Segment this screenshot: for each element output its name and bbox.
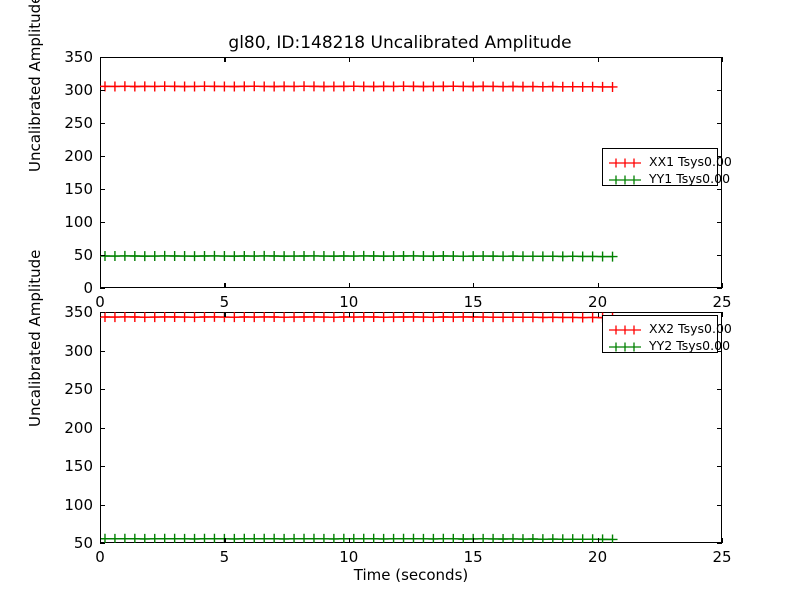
x-tick-mark	[722, 538, 723, 543]
y-tick-label: 50	[74, 246, 93, 264]
legend-entry: XX2 Tsys0.00	[608, 320, 711, 337]
x-tick-label: 15	[464, 548, 483, 566]
x-tick-label: 20	[588, 293, 607, 311]
x-tick-label: 0	[95, 293, 105, 311]
x-tick-mark-top	[473, 312, 474, 317]
y-tick-mark	[100, 466, 105, 467]
x-tick-mark	[349, 538, 350, 543]
y-tick-mark	[100, 428, 105, 429]
y-tick-mark-right	[717, 222, 722, 223]
y-tick-mark	[100, 288, 105, 289]
y-tick-label: 100	[64, 496, 93, 514]
x-tick-mark	[100, 283, 101, 288]
legend-entry: YY1 Tsys0.00	[608, 170, 711, 187]
y-tick-mark-right	[717, 428, 722, 429]
figure-title: gl80, ID:148218 Uncalibrated Amplitude	[0, 33, 800, 53]
top-panel-ylabel: Uncalibrated Amplitude	[26, 0, 44, 172]
x-tick-label: 10	[339, 548, 358, 566]
data-series	[100, 251, 618, 262]
y-tick-label: 200	[64, 419, 93, 437]
legend-marker-icon	[608, 339, 642, 353]
y-tick-mark-right	[717, 505, 722, 506]
y-tick-label: 200	[64, 147, 93, 165]
x-tick-mark-top	[722, 57, 723, 62]
y-tick-mark	[100, 123, 105, 124]
series-markers	[100, 81, 618, 92]
y-tick-mark	[100, 90, 105, 91]
y-tick-mark	[100, 189, 105, 190]
legend-label: YY2 Tsys0.00	[649, 339, 730, 353]
x-tick-mark-top	[100, 57, 101, 62]
x-tick-mark-top	[598, 57, 599, 62]
x-tick-mark	[224, 538, 225, 543]
x-tick-mark	[224, 283, 225, 288]
series-markers	[100, 251, 618, 262]
series-markers	[100, 312, 618, 323]
y-tick-label: 150	[64, 180, 93, 198]
x-tick-mark-top	[473, 57, 474, 62]
bottom-panel-ylabel: Uncalibrated Amplitude	[26, 250, 44, 427]
x-tick-mark-top	[349, 57, 350, 62]
y-tick-label: 300	[64, 81, 93, 99]
top-panel-legend: XX1 Tsys0.00YY1 Tsys0.00	[602, 148, 718, 186]
y-tick-label: 250	[64, 114, 93, 132]
bottom-panel: 501001502002503003500510152025 XX2 Tsys0…	[100, 312, 722, 543]
bottom-panel-xlabel: Time (seconds)	[354, 566, 469, 584]
legend-marker-icon	[608, 155, 642, 169]
y-tick-mark-right	[717, 288, 722, 289]
y-tick-label: 300	[64, 342, 93, 360]
y-tick-mark	[100, 389, 105, 390]
y-tick-mark	[100, 351, 105, 352]
y-tick-label: 100	[64, 213, 93, 231]
x-tick-mark-top	[100, 312, 101, 317]
y-tick-mark-right	[717, 466, 722, 467]
legend-entry: YY2 Tsys0.00	[608, 337, 711, 354]
legend-label: YY1 Tsys0.00	[649, 172, 730, 186]
y-tick-mark-right	[717, 543, 722, 544]
x-tick-mark-top	[598, 312, 599, 317]
y-tick-mark-right	[717, 255, 722, 256]
y-tick-mark	[100, 505, 105, 506]
y-tick-mark-right	[717, 189, 722, 190]
y-tick-label: 0	[83, 279, 93, 297]
series-markers	[100, 534, 618, 543]
x-tick-mark-top	[349, 312, 350, 317]
x-tick-label: 25	[712, 293, 731, 311]
x-tick-mark	[100, 538, 101, 543]
y-tick-label: 150	[64, 457, 93, 475]
x-tick-label: 5	[220, 548, 230, 566]
x-tick-mark	[598, 283, 599, 288]
x-tick-mark-top	[224, 312, 225, 317]
y-tick-label: 350	[64, 48, 93, 66]
data-series	[100, 534, 618, 543]
data-series	[100, 312, 618, 323]
legend-marker-icon	[608, 322, 642, 336]
y-tick-mark-right	[717, 123, 722, 124]
figure-canvas: gl80, ID:148218 Uncalibrated Amplitude 0…	[0, 0, 800, 600]
legend-entry: XX1 Tsys0.00	[608, 153, 711, 170]
top-panel: 0501001502002503003500510152025 XX1 Tsys…	[100, 57, 722, 288]
x-tick-label: 10	[339, 293, 358, 311]
legend-label: XX1 Tsys0.00	[649, 155, 732, 169]
legend-label: XX2 Tsys0.00	[649, 322, 732, 336]
legend-marker-icon	[608, 172, 642, 186]
y-tick-mark	[100, 156, 105, 157]
bottom-panel-legend: XX2 Tsys0.00YY2 Tsys0.00	[602, 315, 718, 353]
x-tick-mark	[598, 538, 599, 543]
y-tick-mark	[100, 255, 105, 256]
x-tick-mark	[722, 283, 723, 288]
y-tick-label: 250	[64, 380, 93, 398]
x-tick-label: 15	[464, 293, 483, 311]
x-tick-label: 20	[588, 548, 607, 566]
x-tick-mark-top	[722, 312, 723, 317]
data-series	[100, 81, 618, 92]
x-tick-mark	[349, 283, 350, 288]
x-tick-mark	[473, 283, 474, 288]
x-tick-label: 0	[95, 548, 105, 566]
y-tick-mark-right	[717, 90, 722, 91]
x-tick-mark	[473, 538, 474, 543]
y-tick-mark	[100, 222, 105, 223]
x-tick-label: 5	[220, 293, 230, 311]
x-tick-mark-top	[224, 57, 225, 62]
y-tick-label: 50	[74, 534, 93, 552]
x-tick-label: 25	[712, 548, 731, 566]
y-tick-label: 350	[64, 303, 93, 321]
y-tick-mark-right	[717, 389, 722, 390]
y-tick-mark	[100, 543, 105, 544]
